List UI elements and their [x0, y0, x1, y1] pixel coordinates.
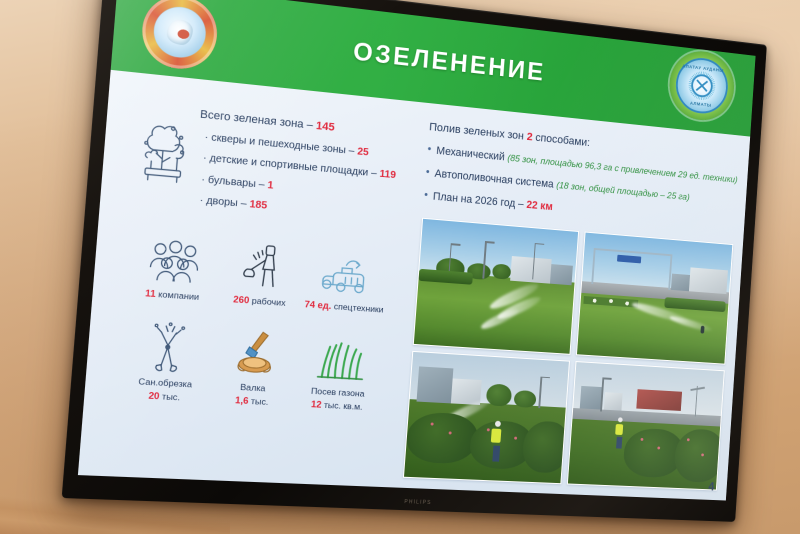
resource-workers-caption: 260 рабочих	[216, 291, 303, 310]
work-unit: тыс. кв.м.	[321, 399, 363, 411]
meeting-room-scene: PHILIPS ОЗЕЛЕНЕНИЕ	[0, 0, 800, 534]
work-lawn-seeding: Посев газона 12 тыс. кв.м.	[294, 331, 384, 414]
resource-companies: 11 компании	[127, 230, 221, 305]
tree-felling-axe-icon	[210, 325, 300, 380]
work-pruning: Сан.обрезка 20 тыс.	[119, 319, 214, 405]
work-title: Посев газона	[311, 386, 365, 399]
resource-machinery: 74 ед. спецтехники	[302, 243, 391, 316]
resource-label: компании	[155, 288, 199, 301]
stat-value: 145	[316, 120, 336, 134]
work-felling-caption: Валка 1,6 тыс.	[208, 380, 296, 410]
photo-sprinkler-roundabout-lawn	[576, 232, 733, 365]
tv-screen: ОЗЕЛЕНЕНИЕ АЛАТАУ АУДАНЫ АЛМАТЫ	[78, 0, 756, 500]
stat-label: · дворы –	[199, 195, 250, 211]
tree-shrub-icon	[137, 113, 192, 186]
photo-worker-on-green-strip	[567, 361, 725, 491]
slide-title: ОЗЕЛЕНЕНИЕ	[352, 37, 546, 87]
tv-bezel: PHILIPS ОЗЕЛЕНЕНИЕ	[62, 0, 767, 522]
tv-brand-label: PHILIPS	[404, 499, 432, 506]
bullet-text: Механический	[436, 145, 508, 164]
work-value: 20	[148, 390, 160, 401]
work-value: 1,6	[235, 395, 249, 406]
resource-label: рабочих	[249, 295, 286, 308]
stat-value: 25	[357, 146, 369, 158]
wall-mounted-television: PHILIPS ОЗЕЛЕНЕНИЕ	[62, 0, 767, 522]
resource-label: спецтехники	[331, 300, 384, 314]
photo-worker-watering-rose-bed	[403, 350, 570, 484]
group-of-people-icon	[129, 230, 221, 287]
photo-sprinkler-median-lawn	[413, 218, 579, 355]
green-zone-stats-block: Всего зеленая зона – 145 · скверы и пеше…	[134, 98, 399, 231]
almaty-city-emblem-icon	[140, 0, 220, 72]
work-unit: тыс.	[159, 391, 180, 403]
left-column: Всего зеленая зона – 145 · скверы и пеше…	[99, 86, 409, 476]
works-icon-row: Сан.обрезка 20 тыс.	[119, 319, 384, 414]
resources-icon-row: 11 компании	[127, 230, 390, 316]
irrigation-heading-part1: Полив зеленых зон	[429, 121, 527, 143]
bullet-text: План на 2026 год –	[433, 191, 527, 211]
special-truck-icon	[303, 243, 390, 298]
work-felling: Валка 1,6 тыс.	[208, 325, 300, 410]
resource-value: 260	[233, 294, 250, 305]
alatau-district-emblem-icon: АЛАТАУ АУДАНЫ АЛМАТЫ	[667, 48, 736, 123]
work-title: Валка	[240, 382, 266, 394]
bullet-note: (18 зон, общей площадью – 25 га)	[556, 180, 690, 202]
resource-value: 74 ед.	[304, 299, 332, 311]
green-zone-stat-list: Всего зеленая зона – 145 · скверы и пеше…	[192, 104, 400, 232]
stat-label: · бульвары –	[201, 174, 268, 191]
work-unit: тыс.	[248, 395, 269, 406]
presentation-slide: ОЗЕЛЕНЕНИЕ АЛАТАУ АУДАНЫ АЛМАТЫ	[78, 0, 756, 500]
slide-body: Всего зеленая зона – 145 · скверы и пеше…	[78, 70, 750, 501]
stat-label: Всего зеленая зона –	[200, 108, 317, 132]
resource-workers: 260 рабочих	[216, 236, 307, 310]
emblem-left-inner	[152, 4, 207, 59]
work-title: Сан.обрезка	[138, 376, 192, 389]
stat-value: 185	[249, 199, 268, 212]
slide-page-number: 4	[708, 480, 715, 494]
grass-lawn-icon	[296, 331, 383, 385]
emblem-right-label-bottom: АЛМАТЫ	[676, 99, 724, 109]
irrigation-heading-part2: способами:	[532, 132, 590, 149]
stat-value: 1	[267, 179, 274, 191]
worker-with-shovel-icon	[217, 236, 307, 292]
emblem-right-ring: АЛАТАУ АУДАНЫ АЛМАТЫ	[674, 55, 729, 116]
photo-gallery	[403, 218, 733, 491]
right-column: Полив зеленых зон 2 способами: Механичес…	[401, 117, 743, 491]
stat-value: 119	[379, 169, 396, 182]
resource-machinery-caption: 74 ед. спецтехники	[302, 297, 387, 316]
work-pruning-caption: Сан.обрезка 20 тыс.	[119, 375, 210, 405]
bullet-value: 22 км	[526, 199, 553, 213]
bullet-text: Автополивочная система	[434, 168, 557, 191]
stat-label: · скверы и пешеходные зоны –	[204, 131, 357, 157]
pruning-shears-icon	[122, 319, 215, 375]
work-lawn-caption: Посев газона 12 тыс. кв.м.	[294, 385, 380, 414]
resource-companies-caption: 11 компании	[127, 285, 217, 304]
